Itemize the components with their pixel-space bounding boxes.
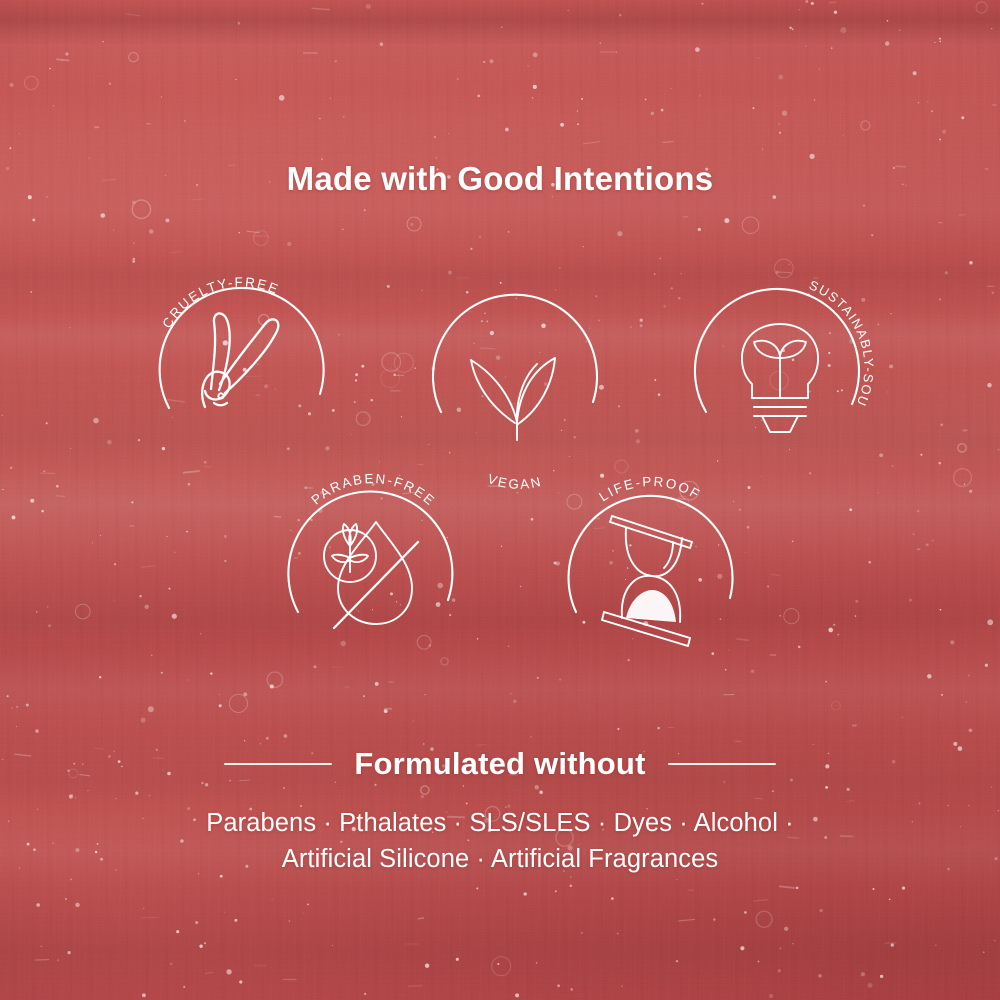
badge-life-proof: LIFE-PROOF xyxy=(552,472,752,672)
badge-ring-arc xyxy=(288,492,452,612)
badge-label-1: VEGAN xyxy=(486,471,544,492)
divider-left xyxy=(224,763,332,765)
bunny-icon xyxy=(202,313,278,407)
excluded-ingredients-list: Parabens · Pthalates · SLS/SLES · Dyes ·… xyxy=(0,805,1000,877)
product-claims-graphic: Made with Good Intentions CRUELTY- xyxy=(0,0,1000,1000)
badge-vegan: VEGAN xyxy=(417,272,617,472)
excluded-ingredients-line-1: Parabens · Pthalates · SLS/SLES · Dyes ·… xyxy=(0,805,1000,841)
badge-sustainably-sourced: SUSTAINABLY-SOURCED xyxy=(680,272,880,472)
leaves-icon xyxy=(471,358,555,440)
badge-ring-arc xyxy=(433,295,597,412)
lightbulb-sprout-icon xyxy=(742,324,818,432)
badge-label-4: LIFE-PROOF xyxy=(596,474,703,504)
droplet-slash-icon xyxy=(324,522,418,628)
hourglass-icon xyxy=(602,516,692,646)
badge-cruelty-free: CRUELTY-FREE xyxy=(141,272,341,472)
badge-label-0: CRUELTY-FREE xyxy=(159,275,281,331)
page-title: Made with Good Intentions xyxy=(0,160,1000,198)
badge-label-2: SUSTAINABLY-SOURCED xyxy=(675,260,877,409)
section-title: Formulated without xyxy=(354,746,645,782)
excluded-ingredients-line-2: Artificial Silicone · Artificial Fragran… xyxy=(0,841,1000,877)
divider-right xyxy=(668,763,776,765)
badge-paraben-free: PARABEN-FREE xyxy=(272,472,472,672)
formulated-without-section: Formulated without xyxy=(0,742,1000,786)
